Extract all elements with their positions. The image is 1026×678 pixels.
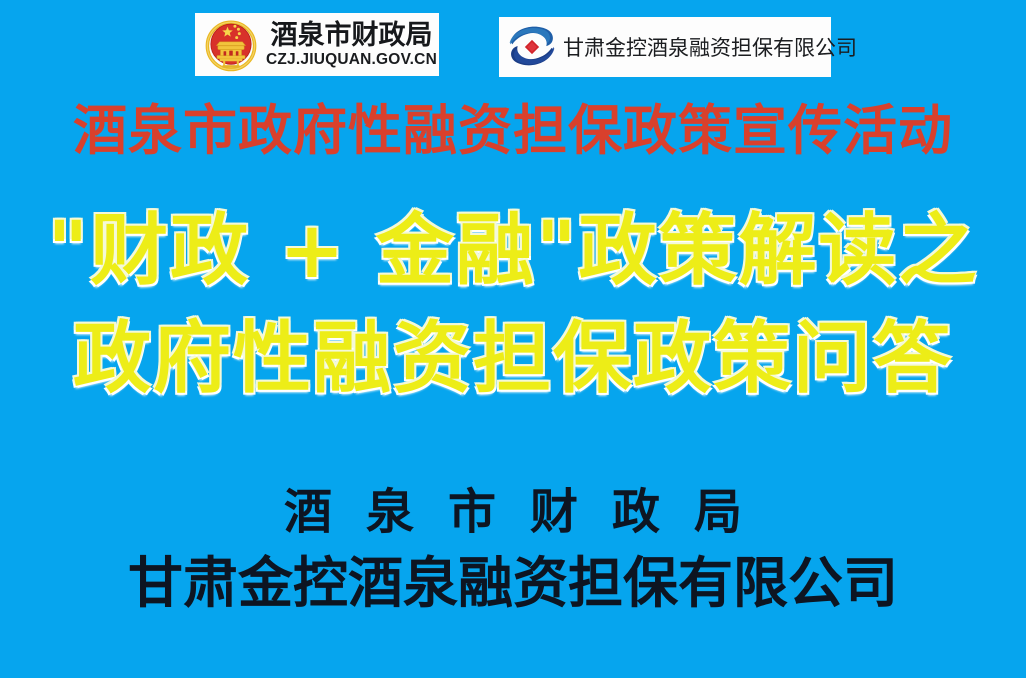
- corp-logo-title: 甘肃金控酒泉融资担保有限公司: [563, 32, 857, 62]
- corp-logo-card: 甘肃金控酒泉融资担保有限公司: [499, 17, 831, 77]
- poster-headline: 酒泉市政府性融资担保政策宣传活动: [0, 101, 1026, 161]
- gov-logo-url: CZJ.JIUQUAN.GOV.CN: [266, 52, 437, 68]
- signature-line-guarantee-company: 甘肃金控酒泉融资担保有限公司: [0, 548, 1026, 620]
- logo-strip: 酒泉市财政局 CZJ.JIUQUAN.GOV.CN 甘肃金控酒泉: [0, 13, 1026, 79]
- poster-root: 酒泉市财政局 CZJ.JIUQUAN.GOV.CN 甘肃金控酒泉: [0, 0, 1026, 678]
- gov-logo-text: 酒泉市财政局 CZJ.JIUQUAN.GOV.CN: [266, 22, 437, 68]
- signature-line-finance-bureau: 酒泉市财政局: [0, 482, 1026, 542]
- poster-title-line-2: 政府性融资担保政策问答: [0, 306, 1026, 414]
- national-emblem-icon: [203, 17, 259, 73]
- gansu-jinkong-wave-icon: [505, 22, 559, 72]
- gov-logo-title: 酒泉市财政局: [270, 22, 432, 49]
- gov-logo-card: 酒泉市财政局 CZJ.JIUQUAN.GOV.CN: [195, 13, 439, 76]
- poster-title-line-1: "财政 + 金融"政策解读之: [0, 198, 1026, 306]
- poster-title-block: "财政 + 金融"政策解读之 政府性融资担保政策问答: [0, 198, 1026, 413]
- poster-signature-block: 酒泉市财政局 甘肃金控酒泉融资担保有限公司: [0, 482, 1026, 620]
